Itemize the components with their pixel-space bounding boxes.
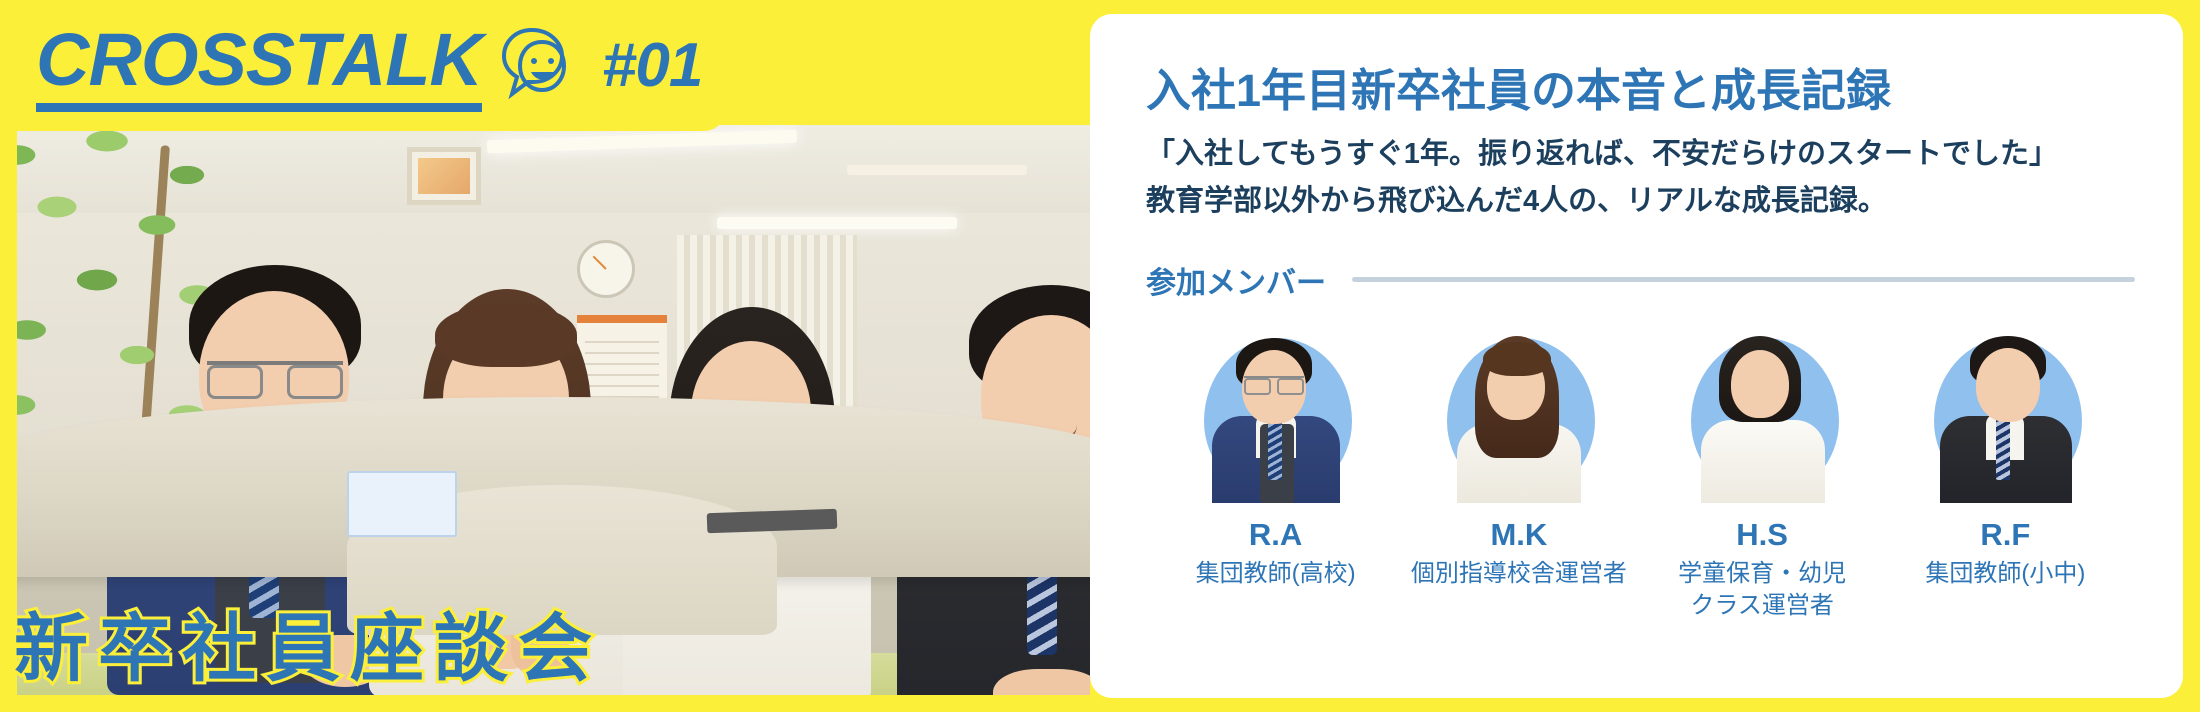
members-list: R.A 集団教師(高校) M.K 個別指導校舎運営者 — [1146, 328, 2135, 621]
section-divider — [1352, 277, 2135, 282]
member-role: 集団教師(高校) — [1196, 558, 1356, 590]
member-name: R.A — [1249, 517, 1302, 553]
notepad — [347, 471, 457, 537]
necktie — [1996, 418, 2010, 480]
avatar — [1928, 328, 2083, 503]
members-label: 参加メンバー — [1146, 258, 1326, 302]
crosstalk-issue-number: #01 — [602, 30, 702, 101]
members-section-header: 参加メンバー — [1146, 258, 2135, 302]
face — [1976, 348, 2040, 422]
avatar-figure — [1441, 328, 1596, 503]
member-card-2[interactable]: M.K 個別指導校舎運営者 — [1397, 328, 1640, 621]
crosstalk-label: CROSSTALK — [36, 19, 482, 113]
member-name: M.K — [1490, 517, 1547, 553]
page-title: 入社1年目新卒社員の本音と成長記録 — [1146, 64, 2135, 118]
member-card-4[interactable]: R.F 集団教師(小中) — [1884, 328, 2127, 621]
avatar-figure — [1685, 328, 1840, 503]
fringe — [1483, 342, 1551, 376]
glasses-icon — [1244, 376, 1304, 390]
member-name: H.S — [1736, 517, 1788, 553]
ceiling-light-icon — [717, 217, 957, 229]
blouse — [1701, 420, 1825, 503]
picture-frame — [407, 147, 481, 205]
lead-description-line: 教育学部以外から飛び込んだ4人の、リアルな成長記録。 — [1146, 179, 2135, 224]
avatar-figure — [1198, 328, 1353, 503]
left-visual-pane: CROSSTALK #01 新卒社員座談会 — [0, 0, 1090, 712]
info-card: 入社1年目新卒社員の本音と成長記録 「入社してもうすぐ1年。振り返れば、不安だら… — [1090, 14, 2183, 698]
member-card-3[interactable]: H.S 学童保育・幼児 クラス運営者 — [1641, 328, 1884, 621]
avatar — [1198, 328, 1353, 503]
hero-caption: 新卒社員座談会 — [14, 589, 602, 696]
avatar-figure — [1928, 328, 2083, 503]
member-role: 個別指導校舎運営者 — [1411, 558, 1627, 590]
necktie — [1268, 420, 1282, 480]
crosstalk-badge: CROSSTALK #01 — [0, 0, 726, 131]
glasses-icon — [207, 361, 343, 391]
avatar — [1441, 328, 1596, 503]
face — [1731, 350, 1789, 418]
avatar — [1685, 328, 1840, 503]
fringe — [435, 303, 577, 367]
member-card-1[interactable]: R.A 集団教師(高校) — [1154, 328, 1397, 621]
member-name: R.F — [1980, 517, 2030, 553]
speech-bubble-smiley-icon — [498, 22, 572, 111]
member-role: 学童保育・幼児 クラス運営者 — [1678, 558, 1846, 621]
lead-quote-line: 「入社してもうすぐ1年。振り返れば、不安だらけのスタートでした」 — [1146, 132, 2135, 177]
ceiling-light-icon — [847, 165, 1027, 175]
crosstalk-banner: CROSSTALK #01 新卒社員座談会 入社1年目新卒社員の本音と成長記録 … — [0, 0, 2200, 712]
member-role: 集団教師(小中) — [1925, 558, 2085, 590]
